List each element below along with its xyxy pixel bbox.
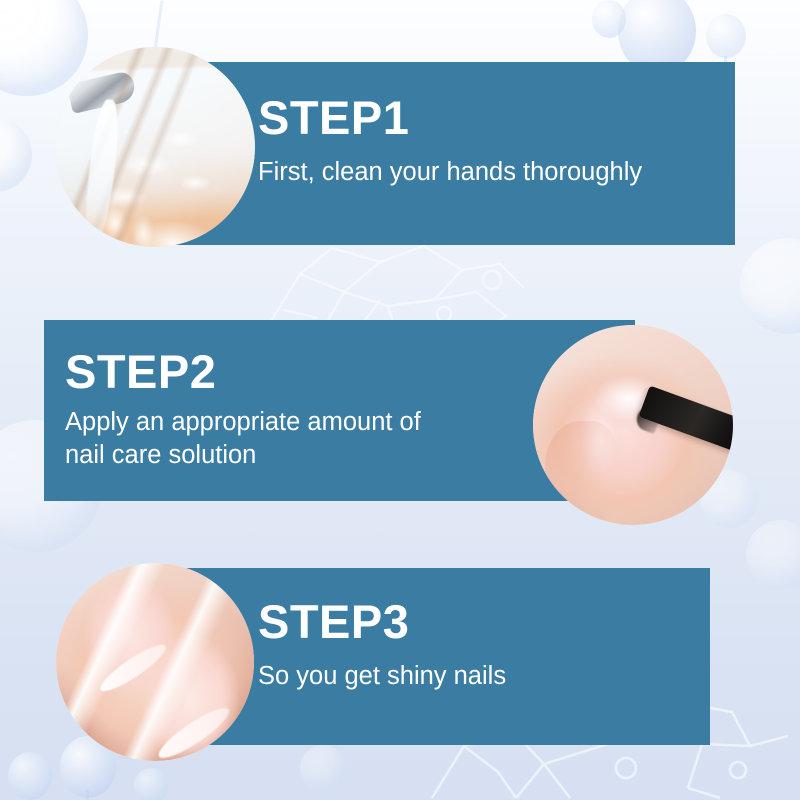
- step-row-3: STEP3 So you get shiny nails: [0, 0, 800, 800]
- step-3-title: STEP3: [258, 598, 698, 646]
- shiny-nails-photo: [56, 563, 254, 761]
- step-3-image: [56, 563, 254, 761]
- step-3-description: So you get shiny nails: [258, 660, 698, 693]
- step-3-text: STEP3 So you get shiny nails: [258, 598, 698, 693]
- instruction-graphic: STEP1 First, clean your hands thoroughly…: [0, 0, 800, 800]
